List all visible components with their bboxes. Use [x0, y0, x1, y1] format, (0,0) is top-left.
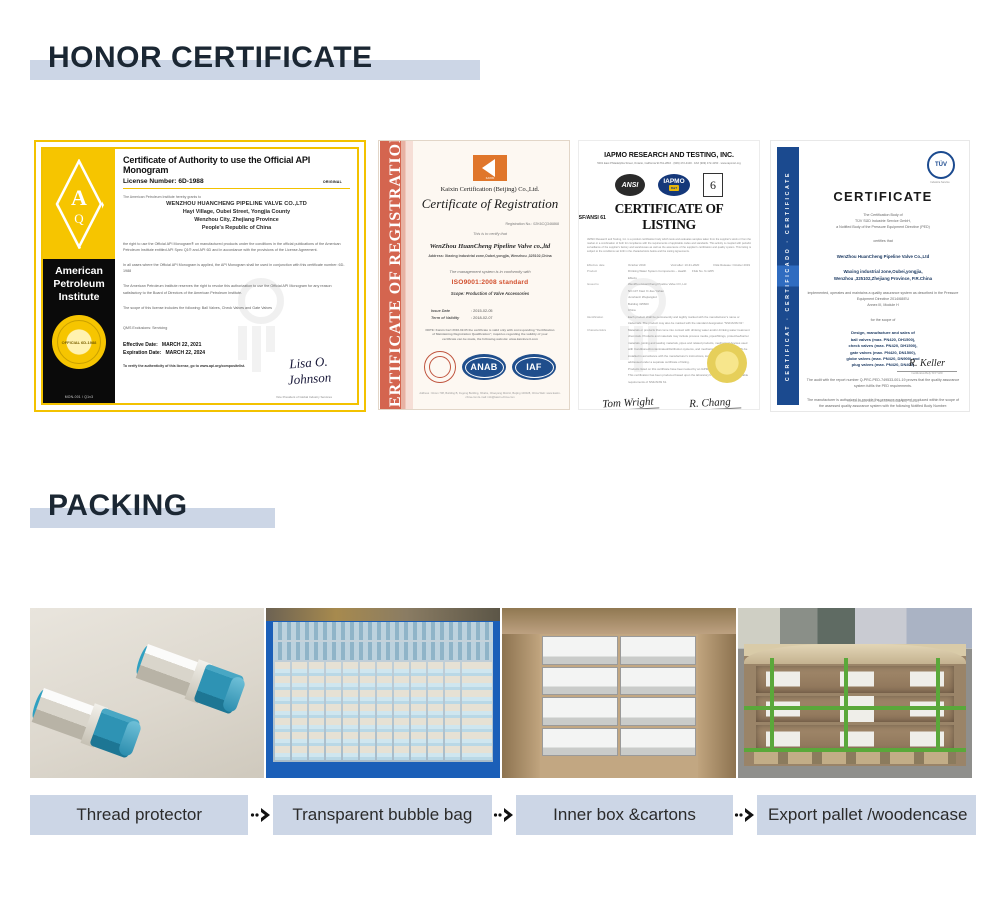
tuv-company-name: WenZhou HuanCheng Pipeline Valve Co.,Ltd — [805, 253, 961, 260]
iso-address: Address: Xiaxing industrial zone,Oubei,y… — [415, 254, 565, 258]
iso-company-name: WenZhou HuanCheng Pipeline Valve co.,ltd — [415, 243, 565, 250]
api-signature: Lisa O. Johnson — [269, 352, 349, 389]
iso-standard: ISO9001:2008 standard — [415, 279, 565, 286]
api-divider — [123, 188, 350, 189]
tuv-side-text: CERTIFICAT · CERTIFICADO · CERTIFICATE — [785, 171, 791, 381]
iso-conformity-line: The management system is in conformity w… — [415, 269, 565, 274]
svg-text:A: A — [71, 185, 87, 210]
table-row: Issued to WenZhou HuanCheng Pipeline Val… — [587, 281, 751, 314]
api-license-label: License Number: — [123, 178, 177, 185]
certificate-gallery: A Q American Petroleum Institute OFFICIA… — [0, 140, 1000, 420]
iapmo-title: CERTIFICATE OF LISTING — [587, 201, 751, 233]
double-chevron-right-icon — [733, 795, 758, 835]
iapmo-gold-seal-icon — [707, 343, 747, 383]
packing-step-3-caption: Inner box &cartons — [516, 795, 733, 835]
table-row: Identification Each product shall be per… — [587, 314, 751, 327]
iso-date-block: Issue Date: 2015-02-05 Term of Validity:… — [431, 308, 565, 321]
iso-org-name: Kaixin Certification (Beijing) Co.,Ltd. — [415, 186, 565, 193]
api-footer-code: MON-001 / Q1v3 — [43, 395, 115, 399]
standard-6-mark-icon: 6 — [703, 173, 723, 197]
api-company-name: WENZHOU HUANCHENG PIPELINE VALVE CO.,LTD — [123, 201, 350, 207]
api-body-paragraph-2: In all cases where the Official API Mono… — [123, 262, 350, 274]
iso-footer: Address : Room 708, Building B, Fugong B… — [415, 392, 565, 400]
export-pallet-photo[interactable] — [738, 608, 972, 778]
packing-step-1-caption: Thread protector — [30, 795, 248, 835]
packing-step-4-caption: Export pallet /woodencase — [757, 795, 976, 835]
api-address: Hayi Village, Oubei Street, Yongjia Coun… — [123, 208, 350, 232]
iapmo-signatures: Tom Wright Chairman, Product Certificati… — [587, 397, 751, 410]
iapmo-signature-right: R. Chang — [679, 396, 742, 410]
iapmo-rt-logo-icon: IAPMOR&T — [658, 174, 690, 196]
double-chevron-right-icon — [492, 795, 517, 835]
page-title: HONOR CERTIFICATE — [30, 36, 373, 80]
iso-side-text: CERTIFICATE OF REGISTRATION — [387, 140, 405, 410]
api-institute-name: American Petroleum Institute — [43, 265, 115, 304]
certificate-iapmo-listing[interactable]: IAPMO RESEARCH AND TESTING, INC. 5001 Ea… — [578, 140, 760, 410]
api-seal-text: OFFICIAL 6D-1988 — [52, 315, 106, 369]
tuv-signature-caption: Certification Body TÜV SÜD — [897, 371, 957, 375]
inner-box-grid — [542, 636, 696, 756]
tuv-scope-label: for the scope of — [805, 318, 961, 324]
packing-title: PACKING — [30, 484, 188, 528]
iso-title: Certificate of Registration — [415, 196, 565, 212]
api-body-paragraph-1: the right to use the Official API Monogr… — [123, 241, 350, 253]
api-body-paragraph-4: The scope of this license includes the f… — [123, 305, 350, 311]
tuv-implement-text: implemented, operates and maintains a qu… — [805, 291, 961, 308]
api-logo-panel: A Q American Petroleum Institute OFFICIA… — [43, 149, 115, 403]
iapmo-logo-row: ANSI IAPMOR&T 6 — [587, 173, 751, 197]
api-certificate-title: Certificate of Authority to use the Offi… — [123, 155, 350, 175]
ansi-logo-icon: ANSI — [615, 174, 645, 196]
tuv-logo-caption: Industrie Service — [919, 181, 961, 184]
iapmo-intro: IAPMO Research and Testing, Inc. is a pr… — [587, 238, 751, 254]
tuv-side-banner: CERTIFICAT · CERTIFICADO · CERTIFICATE — [777, 147, 799, 405]
tuv-address: Waxing industrial zone,Oubei,yongjia, We… — [805, 268, 961, 282]
api-qms-line: QMS Exclusions: Servicing — [123, 325, 350, 331]
tuv-body-intro: The Certification Body of TÜV SÜD Indust… — [805, 213, 961, 230]
honor-certificate-heading: HONOR CERTIFICATE — [30, 36, 373, 80]
api-original-mark: ORIGINAL — [323, 180, 342, 184]
certificate-api-monogram[interactable]: A Q American Petroleum Institute OFFICIA… — [34, 140, 366, 412]
iapmo-signature-left: Tom Wright — [597, 396, 660, 410]
double-chevron-right-icon — [248, 795, 273, 835]
iso-note: NOTE: Kaixin Cert 2016-02-05 the certifi… — [425, 328, 555, 341]
svg-text:Q: Q — [74, 211, 84, 226]
iapmo-standard-mark: NSF/ANSI 61 — [578, 215, 606, 221]
packing-photo-strip — [30, 608, 976, 778]
kaixin-logo-icon: KAIXIN — [473, 155, 507, 181]
certificate-tuv-ce[interactable]: CERTIFICAT · CERTIFICADO · CERTIFICATE T… — [770, 140, 970, 412]
api-letters-icon: A Q — [55, 159, 103, 249]
packing-step-2-caption: Transparent bubble bag — [273, 795, 491, 835]
packing-heading: PACKING — [30, 484, 188, 528]
api-license-number: 6D-1988 — [178, 178, 203, 185]
bubble-bag-crate-photo[interactable] — [266, 608, 500, 778]
certificate-iso-registration[interactable]: CERTIFICATE OF REGISTRATION KAIXIN Kaixi… — [378, 140, 570, 410]
cnas-red-seal-icon — [424, 351, 456, 383]
iaf-logo-icon: IAF — [512, 354, 556, 380]
packing-caption-row: Thread protector Transparent bubble bag … — [30, 795, 976, 835]
iapmo-header: IAPMO RESEARCH AND TESTING, INC. — [587, 151, 751, 159]
tuv-title: CERTIFICATE — [805, 189, 961, 204]
tuv-certifies-line: certifies that — [805, 239, 961, 245]
iso-registration-number: Registration No.: 02K6CQ346868 — [415, 222, 559, 226]
tuv-sud-logo-icon: TÜV — [927, 151, 955, 179]
anab-logo-icon: ANAB — [462, 354, 506, 380]
iso-side-banner: CERTIFICATE OF REGISTRATION — [379, 141, 413, 409]
api-body-paragraph-3: The American Petroleum Institute reserve… — [123, 283, 350, 295]
iso-certify-line: This is to certify that — [415, 232, 565, 236]
inner-box-carton-photo[interactable] — [502, 608, 736, 778]
api-license-line: License Number: 6D-1988 — [123, 178, 350, 185]
iso-accreditation-marks: ANAB IAF — [415, 351, 565, 383]
thread-protector-photo[interactable] — [30, 608, 264, 778]
api-signature-caption: Vice President of Global Industry Servic… — [259, 395, 349, 399]
iapmo-header-subtitle: 5001 East Philadelphia Street, Ontario, … — [587, 162, 751, 165]
api-monogram-diamond-icon: A Q — [43, 149, 115, 259]
tuv-signature: R. Keller Certification Body TÜV SÜD — [897, 358, 957, 375]
iso-scope: Scope: Production of Valve Accessories — [415, 291, 565, 296]
tuv-audit-text: The audit with the report number Q-PRC-P… — [805, 378, 961, 390]
tuv-footer: TÜV SÜD Industrie Service · PED-Unit Cer… — [805, 400, 961, 403]
api-gold-seal-icon: OFFICIAL 6D-1988 — [52, 315, 106, 369]
table-row: Product Drinking Water System Components… — [587, 268, 751, 281]
